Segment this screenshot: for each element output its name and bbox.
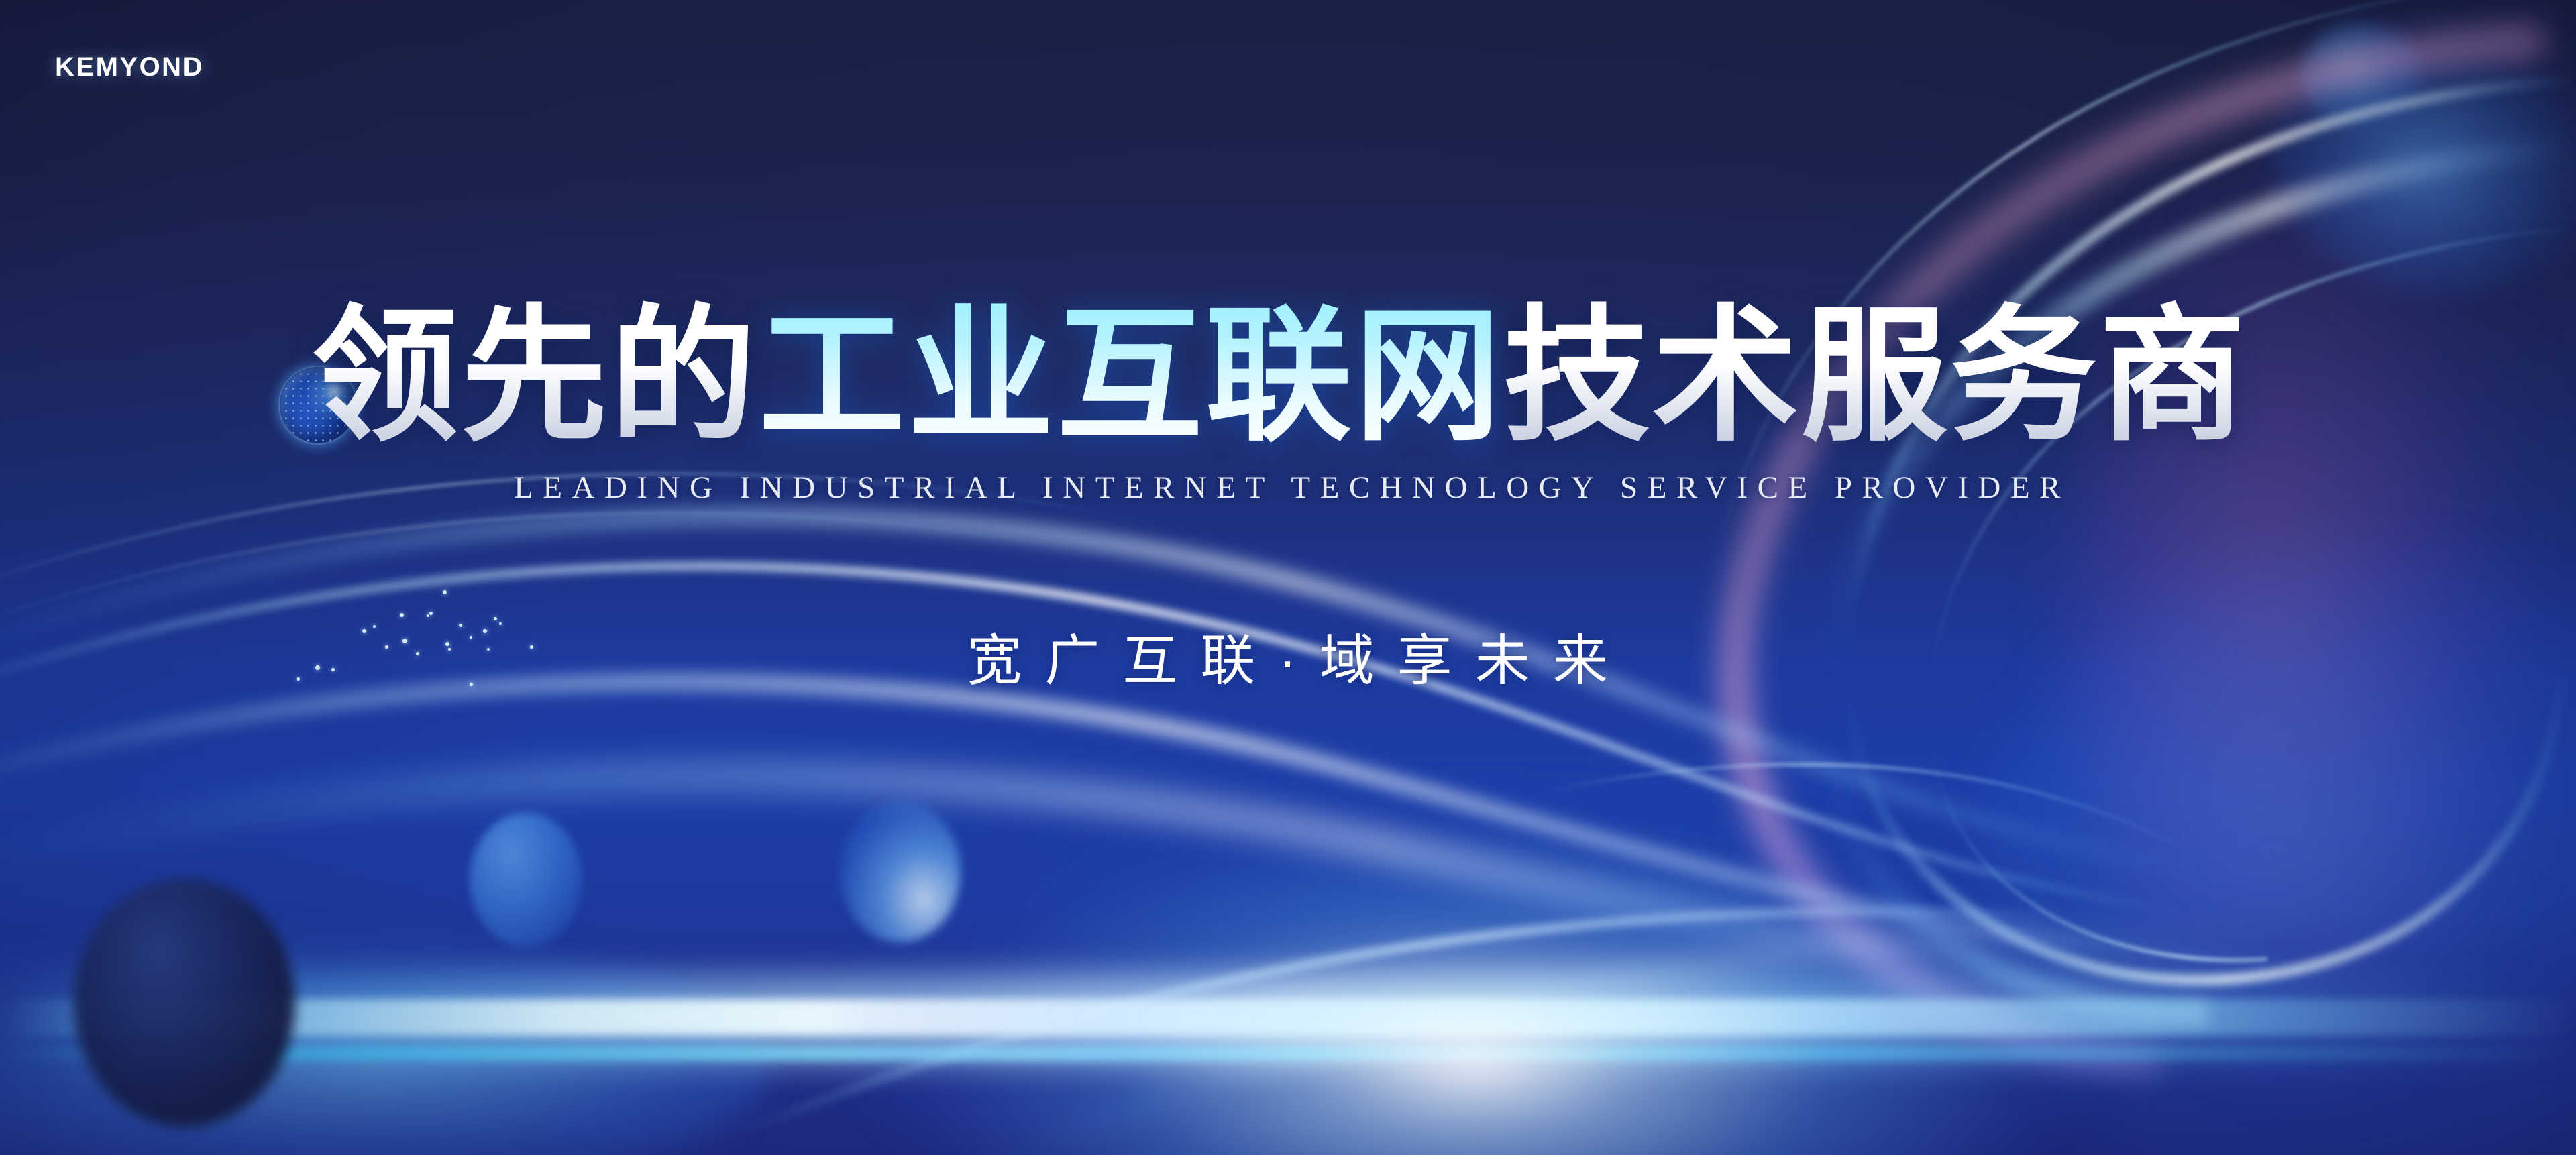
orb-blue-center [840, 802, 961, 942]
hero-banner: KEMYOND 领先的工业互联网技术服务商 LEADING INDUSTRIAL… [0, 0, 2576, 1155]
tagline: 宽广互联·域享未来 [11, 616, 2576, 696]
tagline-right: 域享未来 [1320, 630, 1631, 692]
light-streak-core [0, 999, 2576, 1036]
orb-top-right [2301, 23, 2425, 127]
tagline-left: 宽广互联 [967, 630, 1278, 692]
orb-dark-bottom-left [74, 879, 295, 1127]
headline-subtitle: LEADING INDUSTRIAL INTERNET TECHNOLOGY S… [4, 470, 2576, 506]
page-title: 领先的工业互联网技术服务商 [0, 300, 2568, 454]
glow-center-burst [839, 791, 2113, 1155]
glow-left-lower [0, 926, 771, 1155]
tagline-separator: · [1278, 630, 1319, 692]
light-streak-cyan [0, 1046, 2576, 1061]
headline-segment-3: 技术服务商 [1503, 300, 2248, 454]
vortex-right [1717, 0, 2576, 1060]
light-streak-glow [0, 976, 2576, 1063]
glow-magenta [2066, 121, 2563, 1093]
brand-logo[interactable]: KEMYOND [55, 52, 204, 82]
ribbons-center [0, 474, 2348, 1155]
headline-segment-1: 领先的 [312, 300, 759, 454]
headline-segment-2: 工业互联网 [759, 300, 1503, 454]
light-ribbons [0, 0, 2576, 1155]
glow-top-right [2267, 7, 2576, 295]
particle-field [0, 0, 2576, 1155]
orb-blue-left [470, 813, 582, 947]
vignette-overlay [0, 0, 2576, 1155]
